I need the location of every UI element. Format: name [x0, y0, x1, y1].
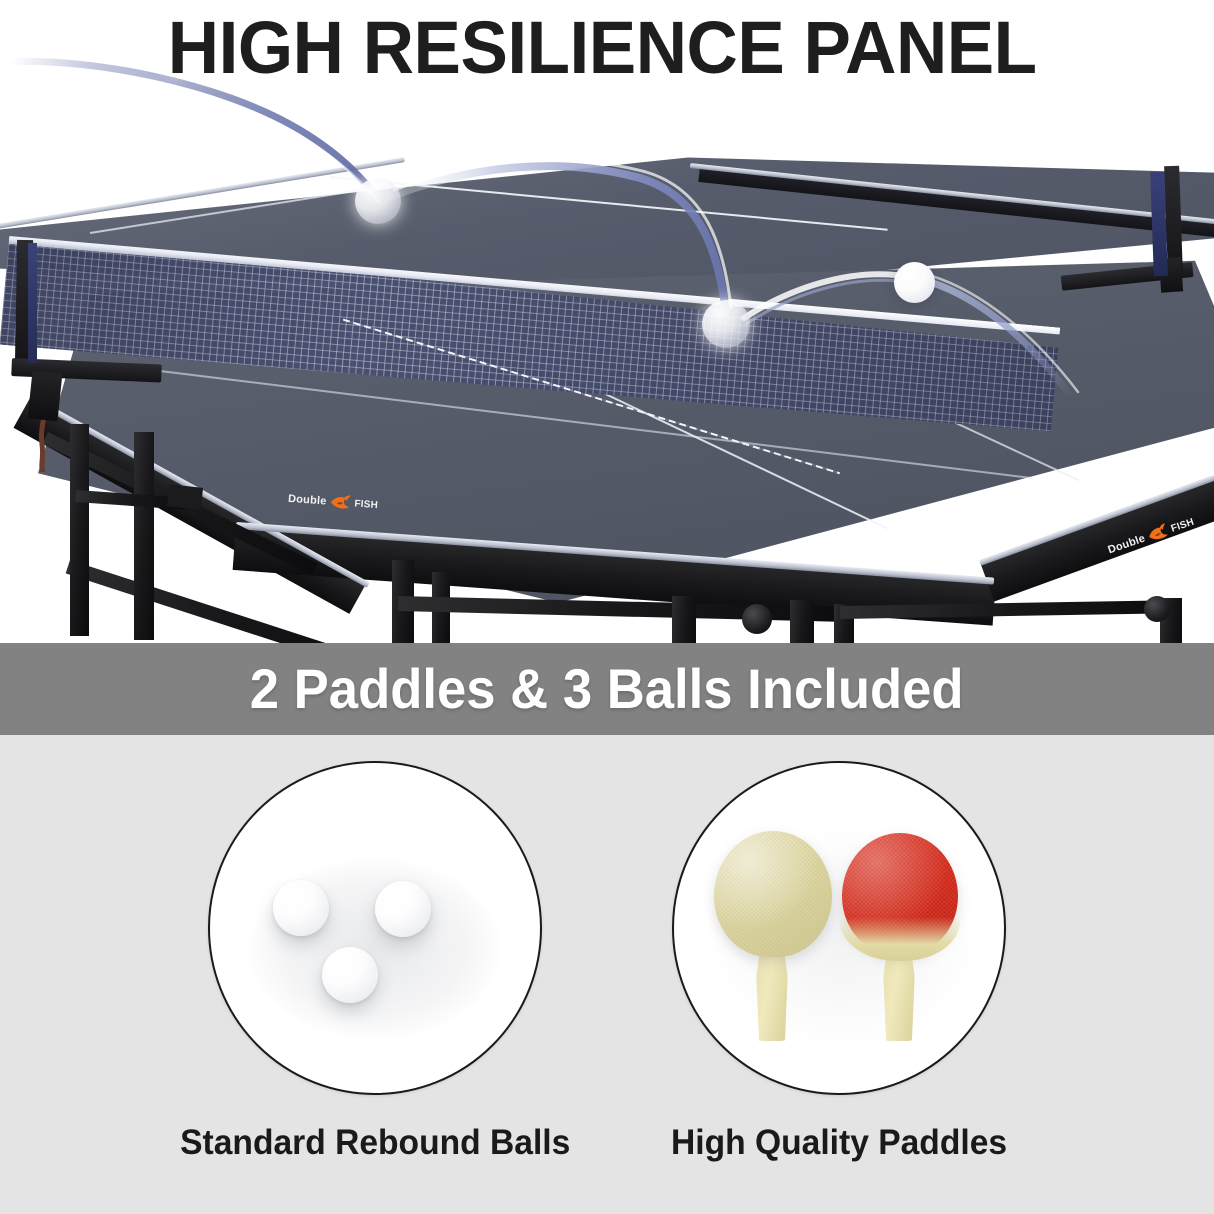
- table-frame-bracket: [167, 484, 203, 509]
- table-leg-center: [672, 596, 696, 643]
- table-caster-wheel-center: [742, 604, 772, 634]
- paddle-rim: [840, 917, 960, 961]
- feature-paddles-caption: High Quality Paddles: [671, 1123, 1007, 1163]
- table-leg-front-left: [70, 424, 89, 636]
- ping-pong-ball-in-flight-center: [702, 300, 750, 348]
- inclusions-banner: 2 Paddles & 3 Balls Included: [0, 643, 1214, 735]
- table-apron-right: [980, 476, 1214, 602]
- feature-balls-circle: [208, 761, 542, 1095]
- feature-paddles: High Quality Paddles: [624, 761, 1054, 1163]
- paddle-handle: [755, 943, 789, 1041]
- table-caster-wheel-right: [1144, 596, 1170, 622]
- feature-paddles-circle: [672, 761, 1006, 1095]
- paddle-icon-beige: [714, 831, 844, 1041]
- features-section: Standard Rebound Balls High Quality Padd…: [0, 735, 1214, 1214]
- ping-pong-ball-icon: [322, 947, 378, 1003]
- product-feature-image: Double FISH Double FISH: [0, 0, 1214, 1214]
- ping-pong-ball-icon: [273, 880, 329, 936]
- paddle-head: [714, 831, 832, 957]
- table-leg-mid-right: [790, 600, 814, 643]
- feature-balls-caption: Standard Rebound Balls: [180, 1123, 570, 1163]
- feature-balls: Standard Rebound Balls: [160, 761, 590, 1163]
- net-edge-left: [28, 243, 37, 363]
- inclusions-banner-text: 2 Paddles & 3 Balls Included: [250, 660, 964, 718]
- page-title: HIGH RESILIENCE PANEL: [24, 8, 1189, 88]
- ping-pong-ball-in-flight-left: [355, 178, 401, 224]
- paddle-icon-red: [842, 833, 972, 1041]
- ping-pong-ball-bouncing-right: [894, 262, 935, 303]
- table-leg-front-left-inner: [134, 432, 154, 640]
- hero-section: Double FISH Double FISH: [0, 0, 1214, 643]
- ping-pong-table-illustration: Double FISH Double FISH: [0, 0, 1214, 643]
- ping-pong-ball-icon: [375, 881, 431, 937]
- net-post-left-clamp: [28, 371, 63, 422]
